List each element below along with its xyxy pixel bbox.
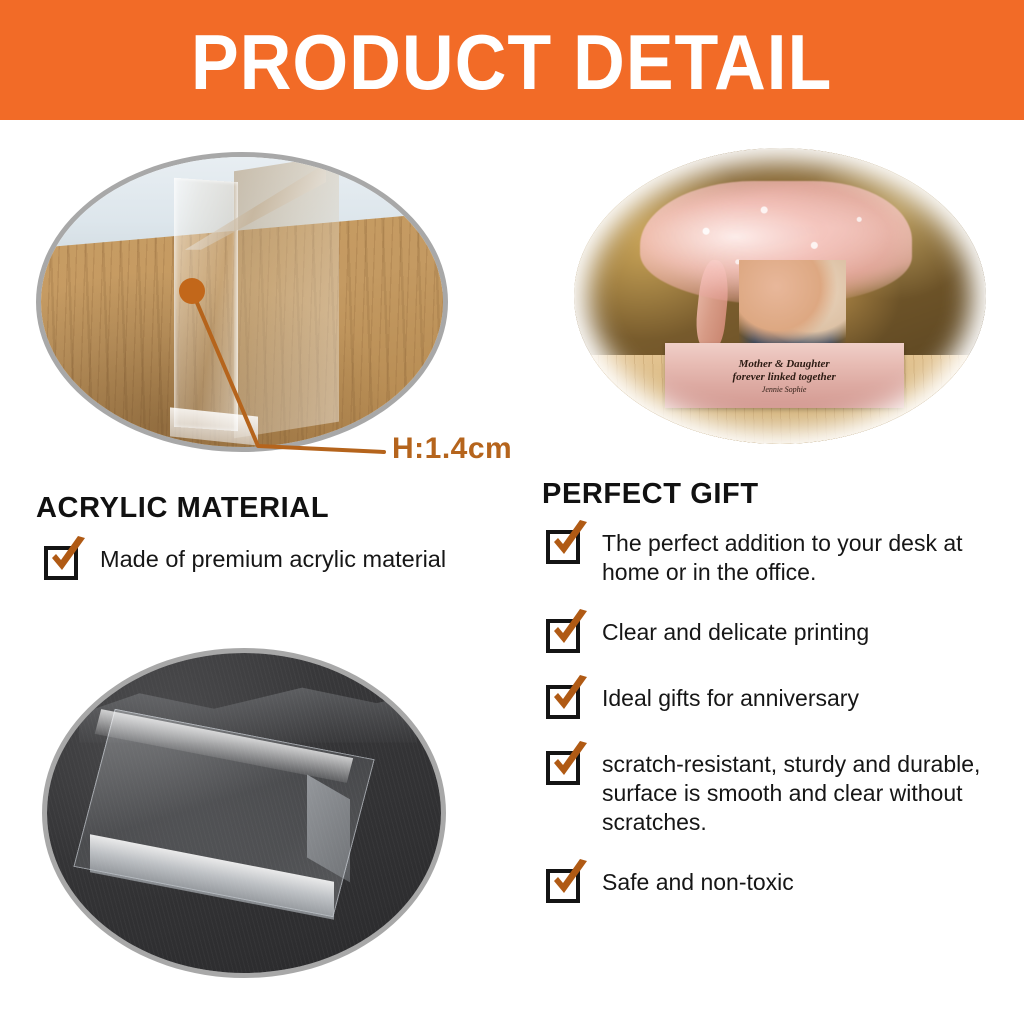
checkbox-check-icon xyxy=(546,526,584,564)
page-title: PRODUCT DETAIL xyxy=(191,23,832,101)
checkbox-check-icon xyxy=(546,615,584,653)
feature-list-perfect-gift: The perfect addition to your desk at hom… xyxy=(546,524,998,929)
checkbox-check-icon xyxy=(546,681,584,719)
edge-scene xyxy=(41,157,443,447)
checkmark-glyph xyxy=(548,675,590,719)
list-item: Ideal gifts for anniversary xyxy=(546,679,998,719)
list-item-label: Clear and delicate printing xyxy=(602,613,869,647)
list-item: Safe and non-toxic xyxy=(546,863,998,903)
list-item-label: Made of premium acrylic material xyxy=(100,540,446,575)
list-item-label: scratch-resistant, sturdy and durable, s… xyxy=(602,745,998,837)
section-heading-acrylic-material: ACRYLIC MATERIAL xyxy=(36,492,329,525)
checkmark-glyph xyxy=(548,520,590,564)
list-item: Made of premium acrylic material xyxy=(44,540,504,580)
checkmark-glyph xyxy=(548,741,590,785)
list-item: Clear and delicate printing xyxy=(546,613,998,653)
checkmark-glyph xyxy=(548,609,590,653)
list-item-label: Safe and non-toxic xyxy=(602,863,794,897)
acrylic-block-front-face xyxy=(174,178,238,432)
checkbox-check-icon xyxy=(546,747,584,785)
list-item: The perfect addition to your desk at hom… xyxy=(546,524,998,587)
acrylic-slab-photo xyxy=(42,648,446,978)
section-heading-perfect-gift: PERFECT GIFT xyxy=(542,478,759,511)
checkbox-check-icon xyxy=(546,865,584,903)
checkbox-check-icon xyxy=(44,542,82,580)
list-item-label: The perfect addition to your desk at hom… xyxy=(602,524,998,587)
checkmark-glyph xyxy=(46,536,88,580)
checkmark-glyph xyxy=(548,859,590,903)
list-item-label: Ideal gifts for anniversary xyxy=(602,679,859,713)
photo-edge-fade xyxy=(574,148,986,444)
crystal-tree-product-photo: Mother & Daughter forever linked togethe… xyxy=(574,148,986,444)
acrylic-block-edge-photo xyxy=(36,152,448,452)
header-banner: PRODUCT DETAIL xyxy=(0,0,1024,120)
list-item: scratch-resistant, sturdy and durable, s… xyxy=(546,745,998,837)
callout-height-label: H:1.4cm xyxy=(392,432,512,466)
feature-list-acrylic-material: Made of premium acrylic material xyxy=(44,540,504,606)
